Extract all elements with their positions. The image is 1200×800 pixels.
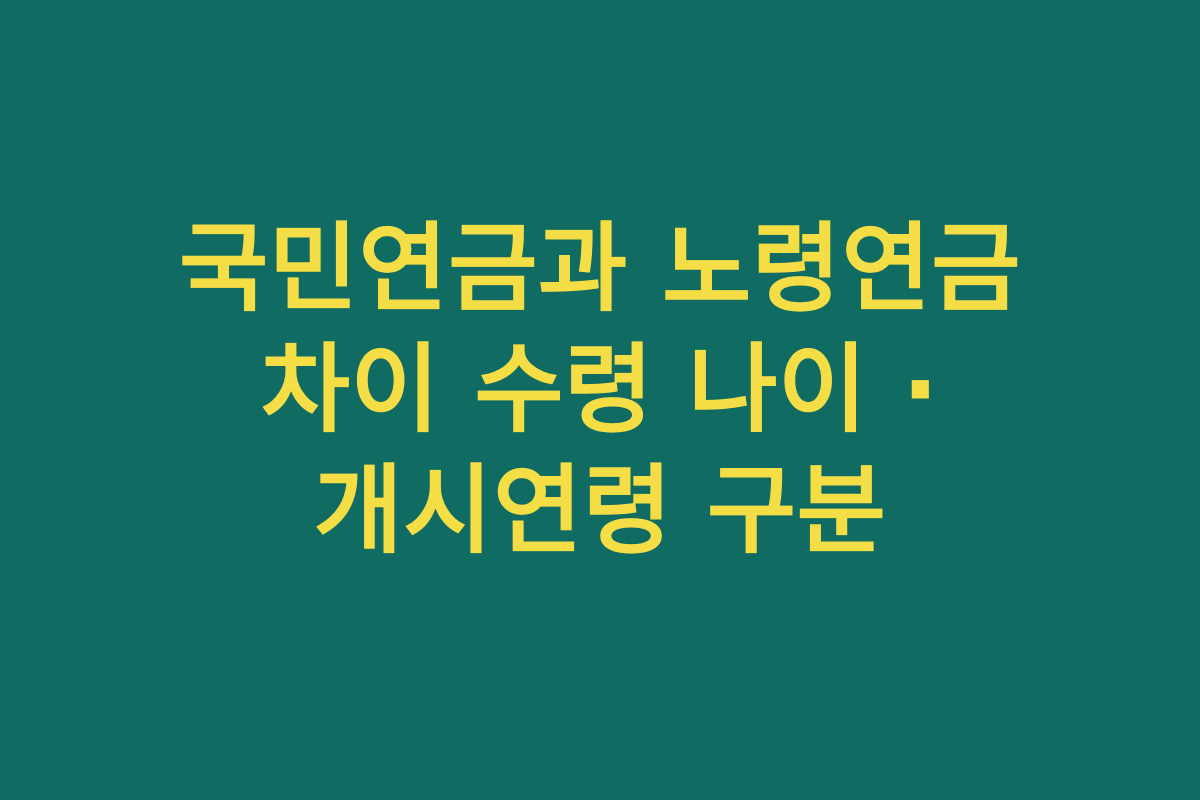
headline-text: 국민연금과 노령연금 차이 수령 나이 · 개시연령 구분 bbox=[95, 208, 1105, 593]
text-card: 국민연금과 노령연금 차이 수령 나이 · 개시연령 구분 bbox=[0, 0, 1200, 800]
